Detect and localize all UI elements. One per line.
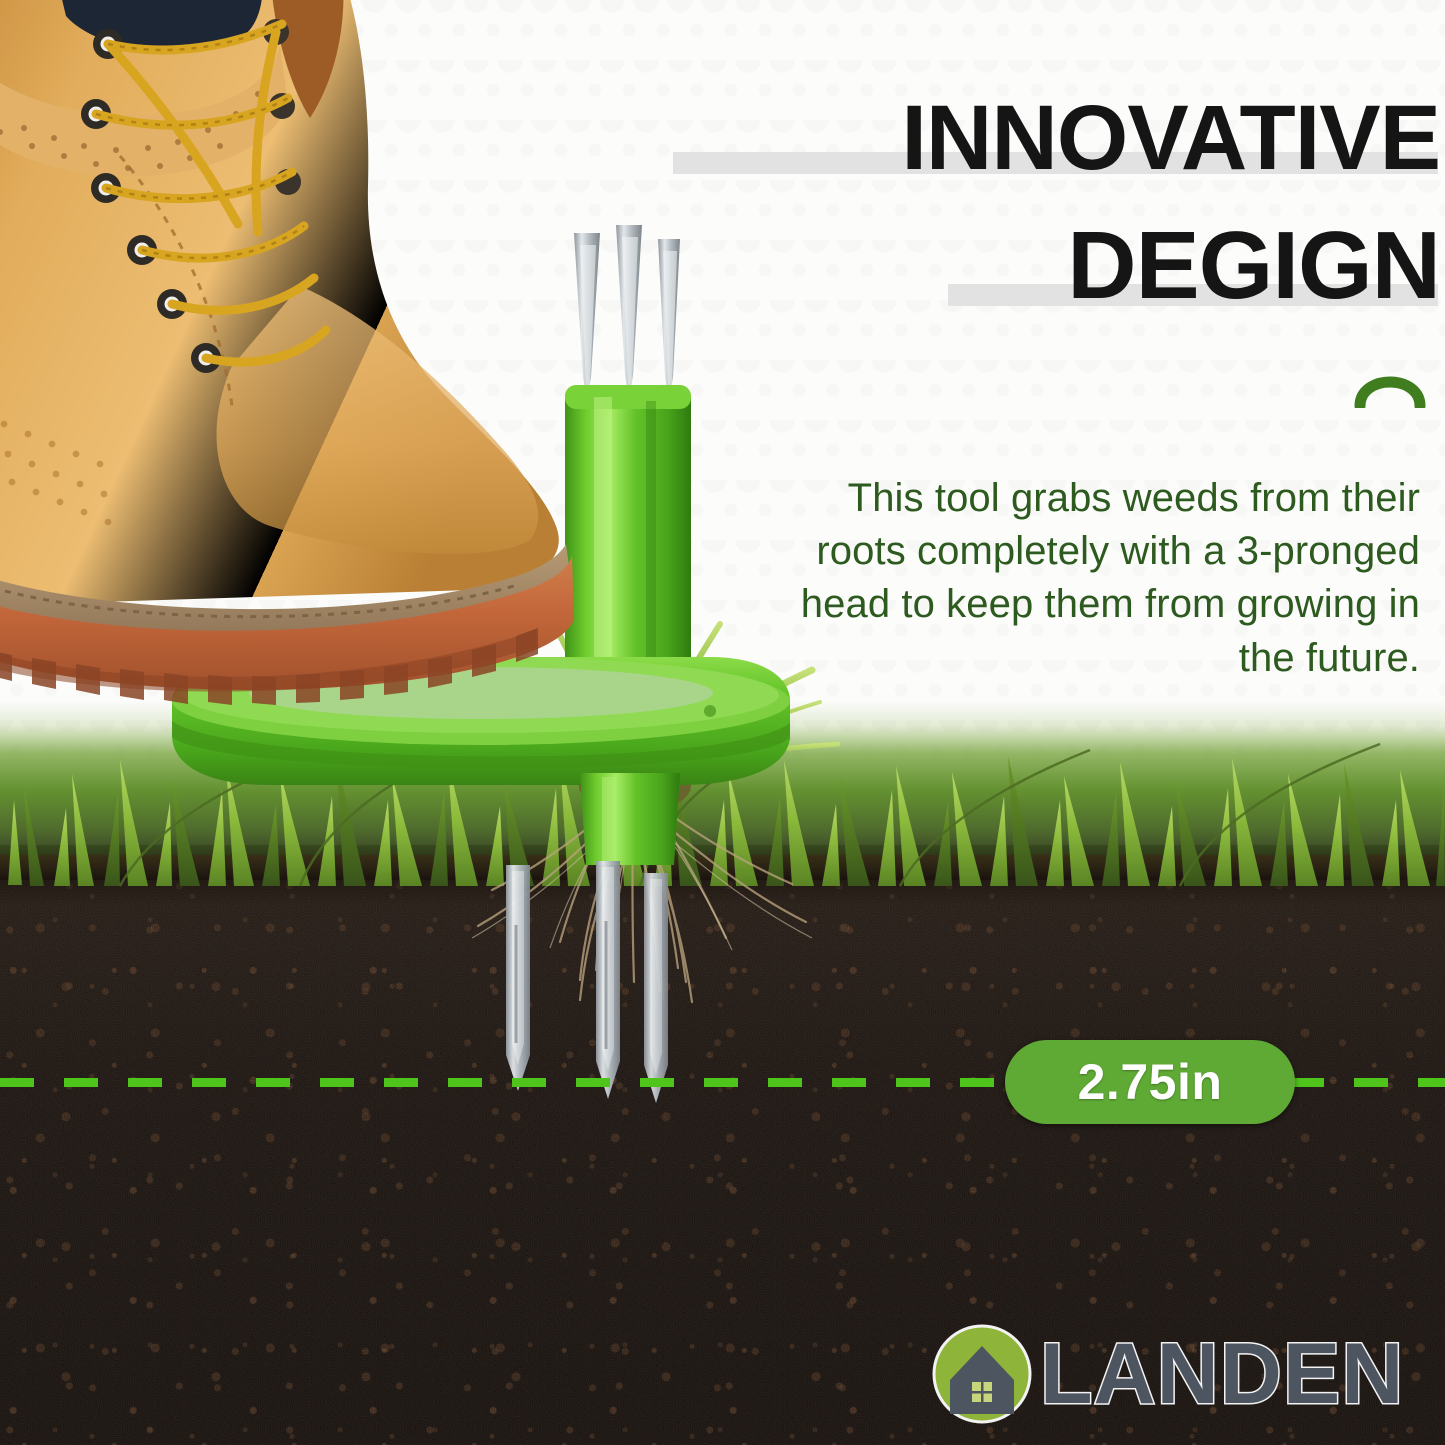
measurement-badge: 2.75in xyxy=(1005,1040,1295,1124)
measurement-dash-line-right xyxy=(1290,1078,1445,1087)
brand-logo: LANDEN xyxy=(930,1322,1404,1426)
house-in-circle-logo-icon xyxy=(930,1322,1034,1426)
headline-line-1: INNOVATIVE xyxy=(640,92,1440,184)
brand-name-text: LANDEN xyxy=(1040,1331,1404,1417)
arc-bracket-icon xyxy=(1352,362,1428,408)
measurement-value-label: 2.75in xyxy=(1078,1053,1223,1111)
headline-line-1-text: INNOVATIVE xyxy=(640,92,1440,184)
soil-prong-icon xyxy=(506,861,668,1103)
headline-line-2: DEGIGN xyxy=(640,218,1440,314)
work-boot-image xyxy=(0,0,630,706)
feature-description-text: This tool grabs weeds from their roots c… xyxy=(760,472,1420,685)
measurement-dash-line-left xyxy=(0,1078,1012,1087)
product-feature-poster: INNOVATIVE DEGIGN This tool grabs weeds … xyxy=(0,0,1445,1445)
headline-line-2-text: DEGIGN xyxy=(640,218,1440,314)
headline-block: INNOVATIVE DEGIGN xyxy=(640,92,1440,314)
